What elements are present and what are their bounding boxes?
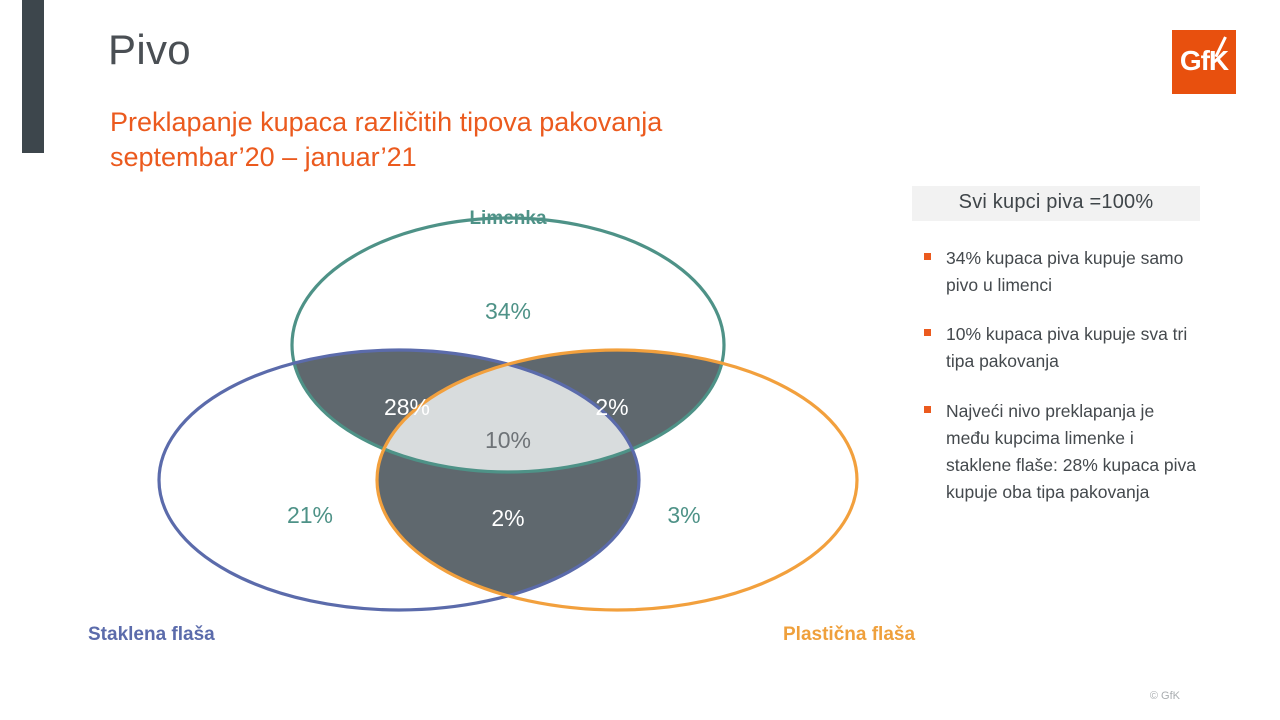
slide-canvas: Pivo Preklapanje kupaca različitih tipov… [0,0,1280,720]
venn-set-label-plastic: Plastična flaša [783,624,915,645]
list-item-text: 34% kupaca piva kupuje samo pivo u limen… [946,248,1183,295]
insights-list: 34% kupaca piva kupuje samo pivo u limen… [912,245,1200,506]
list-item: 10% kupaca piva kupuje sva tri tipa pako… [912,321,1200,375]
copyright-footer: © GfK [1150,690,1180,702]
gfk-logo-text: GfK [1172,30,1236,94]
bullet-square-icon [924,406,931,413]
total-base-header: Svi kupci piva =100% [912,186,1200,221]
venn-value-can-plastic: 2% [595,394,628,420]
insights-panel: Svi kupci piva =100% 34% kupaca piva kup… [912,186,1200,506]
bullet-square-icon [924,329,931,336]
list-item-text: 10% kupaca piva kupuje sva tri tipa pako… [946,324,1187,371]
gfk-logo: GfK [1172,30,1236,94]
list-item-text: Najveći nivo preklapanja je među kupcima… [946,401,1196,502]
venn-value-can-only: 34% [485,298,531,324]
venn-diagram: Limenka Staklena flaša Plastična flaša 3… [0,190,900,660]
page-subtitle-line-2: septembar’20 – januar’21 [110,140,830,175]
page-subtitle: Preklapanje kupaca različitih tipova pak… [110,105,830,175]
bullet-square-icon [924,253,931,260]
venn-value-glass-only: 21% [287,502,333,528]
page-title: Pivo [108,28,191,72]
venn-value-plastic-only: 3% [667,502,700,528]
venn-value-glass-plastic: 2% [491,505,524,531]
venn-set-label-glass: Staklena flaša [88,624,215,645]
list-item: Najveći nivo preklapanja je među kupcima… [912,398,1200,507]
venn-value-can-glass-plastic: 10% [485,427,531,453]
venn-region-can-glass-plastic [0,190,900,660]
title-accent-bar [22,0,44,153]
venn-set-label-can: Limenka [469,208,547,229]
list-item: 34% kupaca piva kupuje samo pivo u limen… [912,245,1200,299]
venn-value-can-glass: 28% [384,394,430,420]
page-subtitle-line-1: Preklapanje kupaca različitih tipova pak… [110,105,830,140]
